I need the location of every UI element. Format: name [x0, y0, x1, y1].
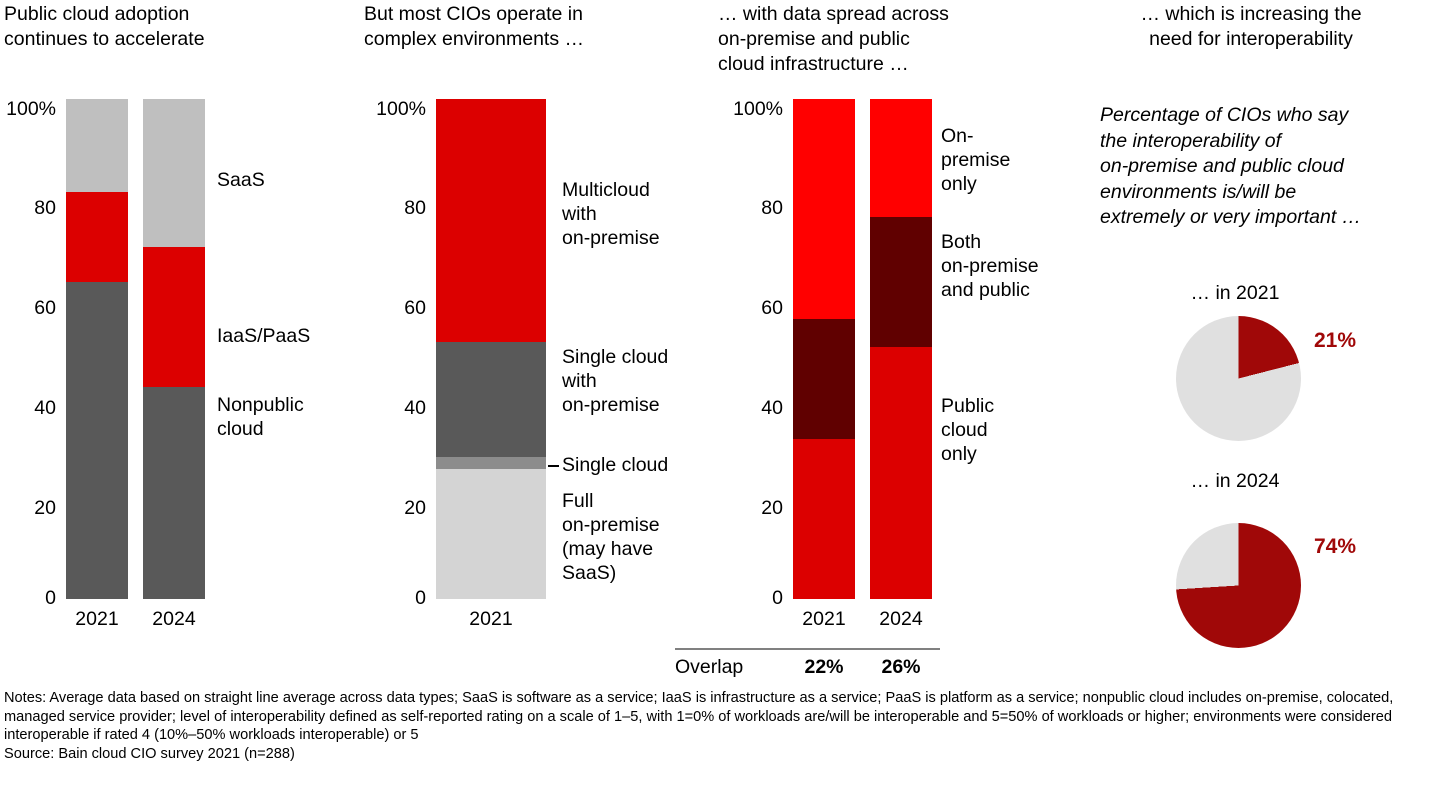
panel-3-ytick-0: 0 [727, 589, 783, 609]
pie-2024-value: 74% [1314, 535, 1356, 559]
footnote-source: Source: Bain cloud CIO survey 2021 (n=28… [0, 745, 1436, 764]
panel-1-xtick-2021: 2021 [66, 608, 128, 630]
panel-4-note: Percentage of CIOs who say the interoper… [1100, 103, 1440, 231]
panel-3-xtick-2021: 2021 [793, 608, 855, 630]
panel-2-ytick-80: 80 [370, 199, 426, 219]
panel-1-legend-iaas-paas: IaaS/PaaS [217, 324, 310, 348]
panel-2-ytick-0: 0 [370, 589, 426, 609]
panel-2-legend-multicloud: Multicloud with on-premise [562, 178, 660, 250]
panel-2-ytick-40: 40 [370, 399, 426, 419]
panel-2-ytick-100: 100% [370, 100, 426, 120]
panel-3-legend-public-cloud-only: Public cloud only [941, 394, 994, 466]
panel-2-legend-single-cloud: Single cloud [562, 453, 668, 477]
panel-3-ytick-20: 20 [727, 499, 783, 519]
panel-3-ytick-40: 40 [727, 399, 783, 419]
pie-2021-value: 21% [1314, 329, 1356, 353]
segment-iaas-paas [66, 192, 128, 282]
segment-nonpublic-cloud [143, 387, 205, 600]
pie-2024-caption: … in 2024 [1140, 470, 1330, 493]
segment-on-premise-only [793, 99, 855, 319]
panel-3-legend-on-premise-only: On- premise only [941, 124, 1010, 196]
segment-both-on-premise-and-public [793, 319, 855, 439]
panel-2-title: But most CIOs operate in complex environ… [364, 2, 704, 52]
segment-on-premise-only [870, 99, 932, 217]
panel-3-ytick-100: 100% [727, 100, 783, 120]
overlap-row-label: Overlap [675, 656, 743, 679]
segment-saas [143, 99, 205, 247]
panel-3-ytick-80: 80 [727, 199, 783, 219]
overlap-value-2024: 26% [870, 656, 932, 679]
panel-1-legend-nonpublic: Nonpublic cloud [217, 393, 304, 441]
overlap-divider [675, 648, 940, 650]
panel-3-xtick-2024: 2024 [870, 608, 932, 630]
panel-3-bar-2024 [870, 99, 932, 599]
panel-2-legend-full-on-premise: Full on-premise (may have SaaS) [562, 489, 660, 585]
panel-2-ytick-20: 20 [370, 499, 426, 519]
footnotes: Notes: Average data based on straight li… [0, 689, 1436, 763]
panel-1-ytick-80: 80 [0, 199, 56, 219]
segment-multicloud-on-premise [436, 99, 546, 342]
segment-single-cloud-on-premise [436, 342, 546, 457]
panel-4-title: … which is increasing the need for inter… [1076, 2, 1426, 52]
panel-1-ytick-0: 0 [0, 589, 56, 609]
panel-2-xtick-2021: 2021 [436, 608, 546, 630]
segment-full-on-premise [436, 469, 546, 599]
panel-1-bar-2024 [143, 99, 205, 599]
panel-3-legend-both: Both on-premise and public [941, 230, 1039, 302]
segment-saas [66, 99, 128, 192]
segment-nonpublic-cloud [66, 282, 128, 600]
panel-1-ytick-100: 100% [0, 100, 56, 120]
panel-2-leader-line [548, 465, 559, 467]
pie-2021-caption: … in 2021 [1140, 282, 1330, 305]
footnote-notes: Notes: Average data based on straight li… [0, 689, 1436, 745]
overlap-value-2021: 22% [793, 656, 855, 679]
panel-1-ytick-20: 20 [0, 499, 56, 519]
panel-1-xtick-2024: 2024 [143, 608, 205, 630]
segment-both-on-premise-and-public [870, 217, 932, 347]
panel-3-bar-2021 [793, 99, 855, 599]
panel-2-legend-single-cloud-on-premise: Single cloud with on-premise [562, 345, 668, 417]
panel-1-title: Public cloud adoption continues to accel… [4, 2, 344, 52]
panel-2-bar-2021 [436, 99, 546, 599]
panel-3-ytick-60: 60 [727, 299, 783, 319]
segment-single-cloud [436, 457, 546, 470]
panel-3-title: … with data spread across on-premise and… [718, 2, 1068, 77]
panel-2-ytick-60: 60 [370, 299, 426, 319]
segment-iaas-paas [143, 247, 205, 387]
segment-public-cloud-only [793, 439, 855, 599]
pie-2021 [1176, 316, 1301, 441]
pie-2024 [1176, 523, 1301, 648]
panel-1-bar-2021 [66, 99, 128, 599]
panel-1-legend-saas: SaaS [217, 168, 265, 192]
segment-public-cloud-only [870, 347, 932, 600]
panel-1-ytick-40: 40 [0, 399, 56, 419]
panel-1-ytick-60: 60 [0, 299, 56, 319]
